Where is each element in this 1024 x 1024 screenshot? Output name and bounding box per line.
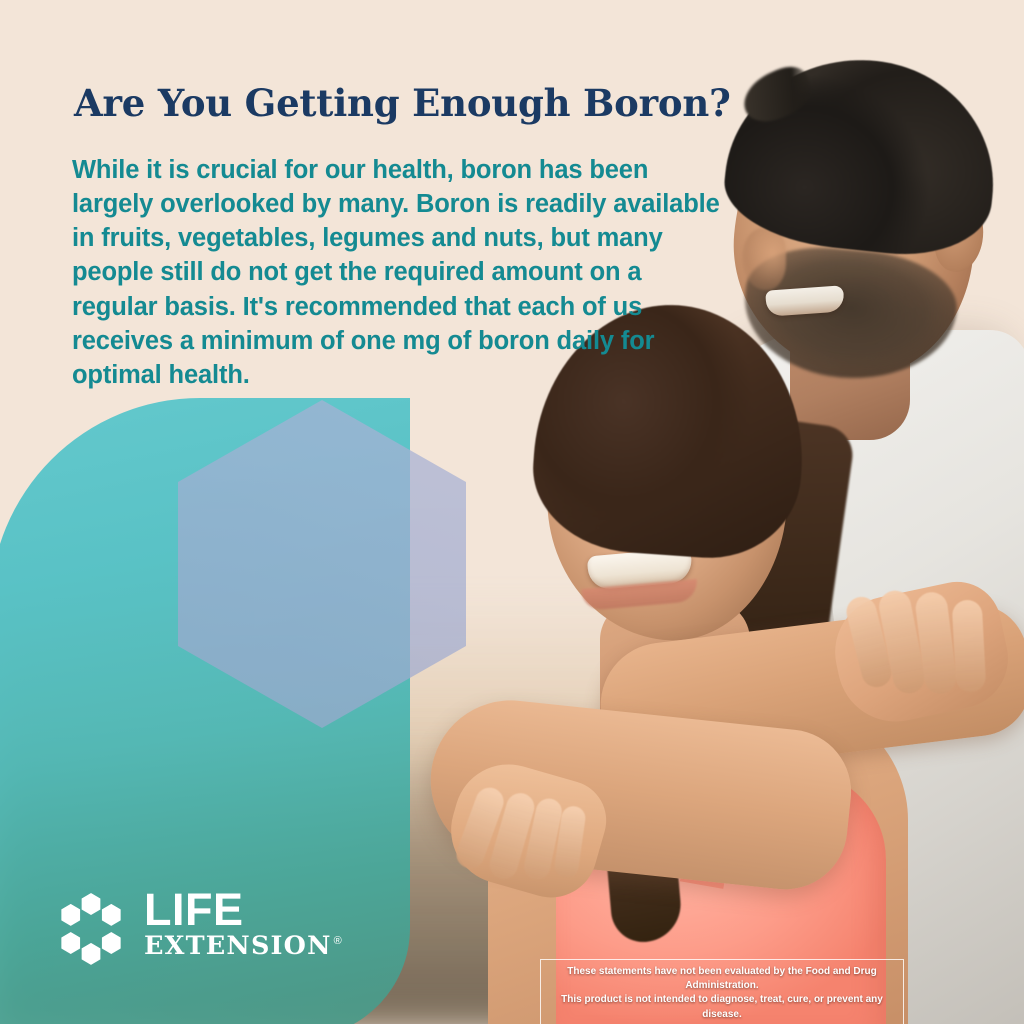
- logo-life-text: LIFE: [144, 888, 342, 932]
- logo-extension-text: EXTENSION: [144, 934, 332, 960]
- man-nose: [742, 228, 786, 290]
- body-paragraph: While it is crucial for our health, boro…: [72, 153, 722, 393]
- fda-disclaimer-box: These statements have not been evaluated…: [540, 959, 904, 1024]
- life-extension-logo: LIFE EXTENSION ®: [52, 888, 332, 970]
- logo-wordmark: LIFE EXTENSION ®: [144, 888, 342, 960]
- hexagon-lattice-icon: [52, 890, 130, 968]
- registered-trademark-symbol: ®: [334, 935, 342, 947]
- disclaimer-line-2: This product is not intended to diagnose…: [547, 993, 897, 1021]
- disclaimer-line-1: These statements have not been evaluated…: [547, 965, 897, 993]
- page-title: Are You Getting Enough Boron?: [74, 83, 774, 124]
- promotional-graphic: Are You Getting Enough Boron? While it i…: [0, 0, 1024, 1024]
- man-finger: [952, 599, 987, 692]
